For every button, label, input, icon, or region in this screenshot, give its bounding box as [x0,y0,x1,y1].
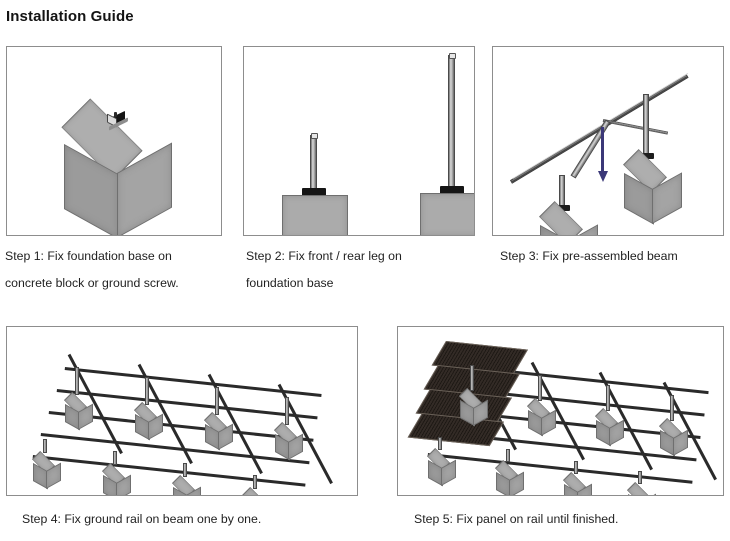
front-block [494,460,524,490]
front-block [562,472,592,496]
rear-block [273,422,303,452]
step-5-drawing [398,327,723,495]
rear-post [285,397,289,425]
rear-concrete-block [621,147,683,209]
front-block-face [282,195,348,236]
step-5-caption: Step 5: Fix panel on rail until finished… [414,506,724,533]
rear-block [458,388,488,418]
step-3-drawing [493,47,723,235]
rear-post [75,367,79,395]
front-block [241,487,271,496]
rear-leg-assembly [429,55,475,233]
beam-cross-member [603,119,668,135]
rear-block [133,402,163,432]
step-4-drawing [7,327,357,495]
bracket-bolt [114,112,117,117]
arrow-head-icon [598,171,608,182]
front-block [101,463,131,493]
step-2-drawing [244,47,474,235]
front-block [171,475,201,496]
front-block [31,451,61,481]
front-block [626,482,656,496]
rear-leg-tube [448,55,455,188]
ground-rail [33,455,306,487]
rear-block [63,392,93,422]
step-1-caption: Step 1: Fix foundation base on concrete … [5,243,235,297]
front-concrete-block [537,199,599,236]
foundation-base-bracket [106,112,130,128]
step-5-illustration-panel [397,326,724,496]
step-4-caption: Step 4: Fix ground rail on beam one by o… [22,506,352,533]
rear-block-face [420,193,475,236]
rear-foundation-block [420,193,475,235]
rear-leg-bolt [449,53,456,59]
installation-guide-page: Installation Guide [0,0,730,541]
page-title: Installation Guide [6,8,134,26]
step-4-illustration-panel [6,326,358,496]
front-leg-tube [310,135,317,190]
front-leg-bolt [311,133,318,139]
block-top [242,487,265,496]
block-top [627,482,650,496]
rear-post [215,387,219,415]
front-block [426,448,456,478]
front-foundation-block [282,195,346,236]
step-1-drawing [7,47,221,235]
step-1-illustration-panel [6,46,222,236]
rear-block [658,418,688,448]
assembly-direction-arrow [597,127,609,184]
step-2-illustration-panel [243,46,475,236]
step-2-caption: Step 2: Fix front / rear leg on foundati… [246,243,486,297]
arrow-shaft [601,127,604,173]
rear-block [526,398,556,428]
rear-post [145,377,149,405]
rear-block [594,408,624,438]
rear-block [203,412,233,442]
front-leg-assembly [292,135,336,233]
step-3-illustration-panel [492,46,724,236]
step-3-caption: Step 3: Fix pre-assembled beam [500,243,728,270]
